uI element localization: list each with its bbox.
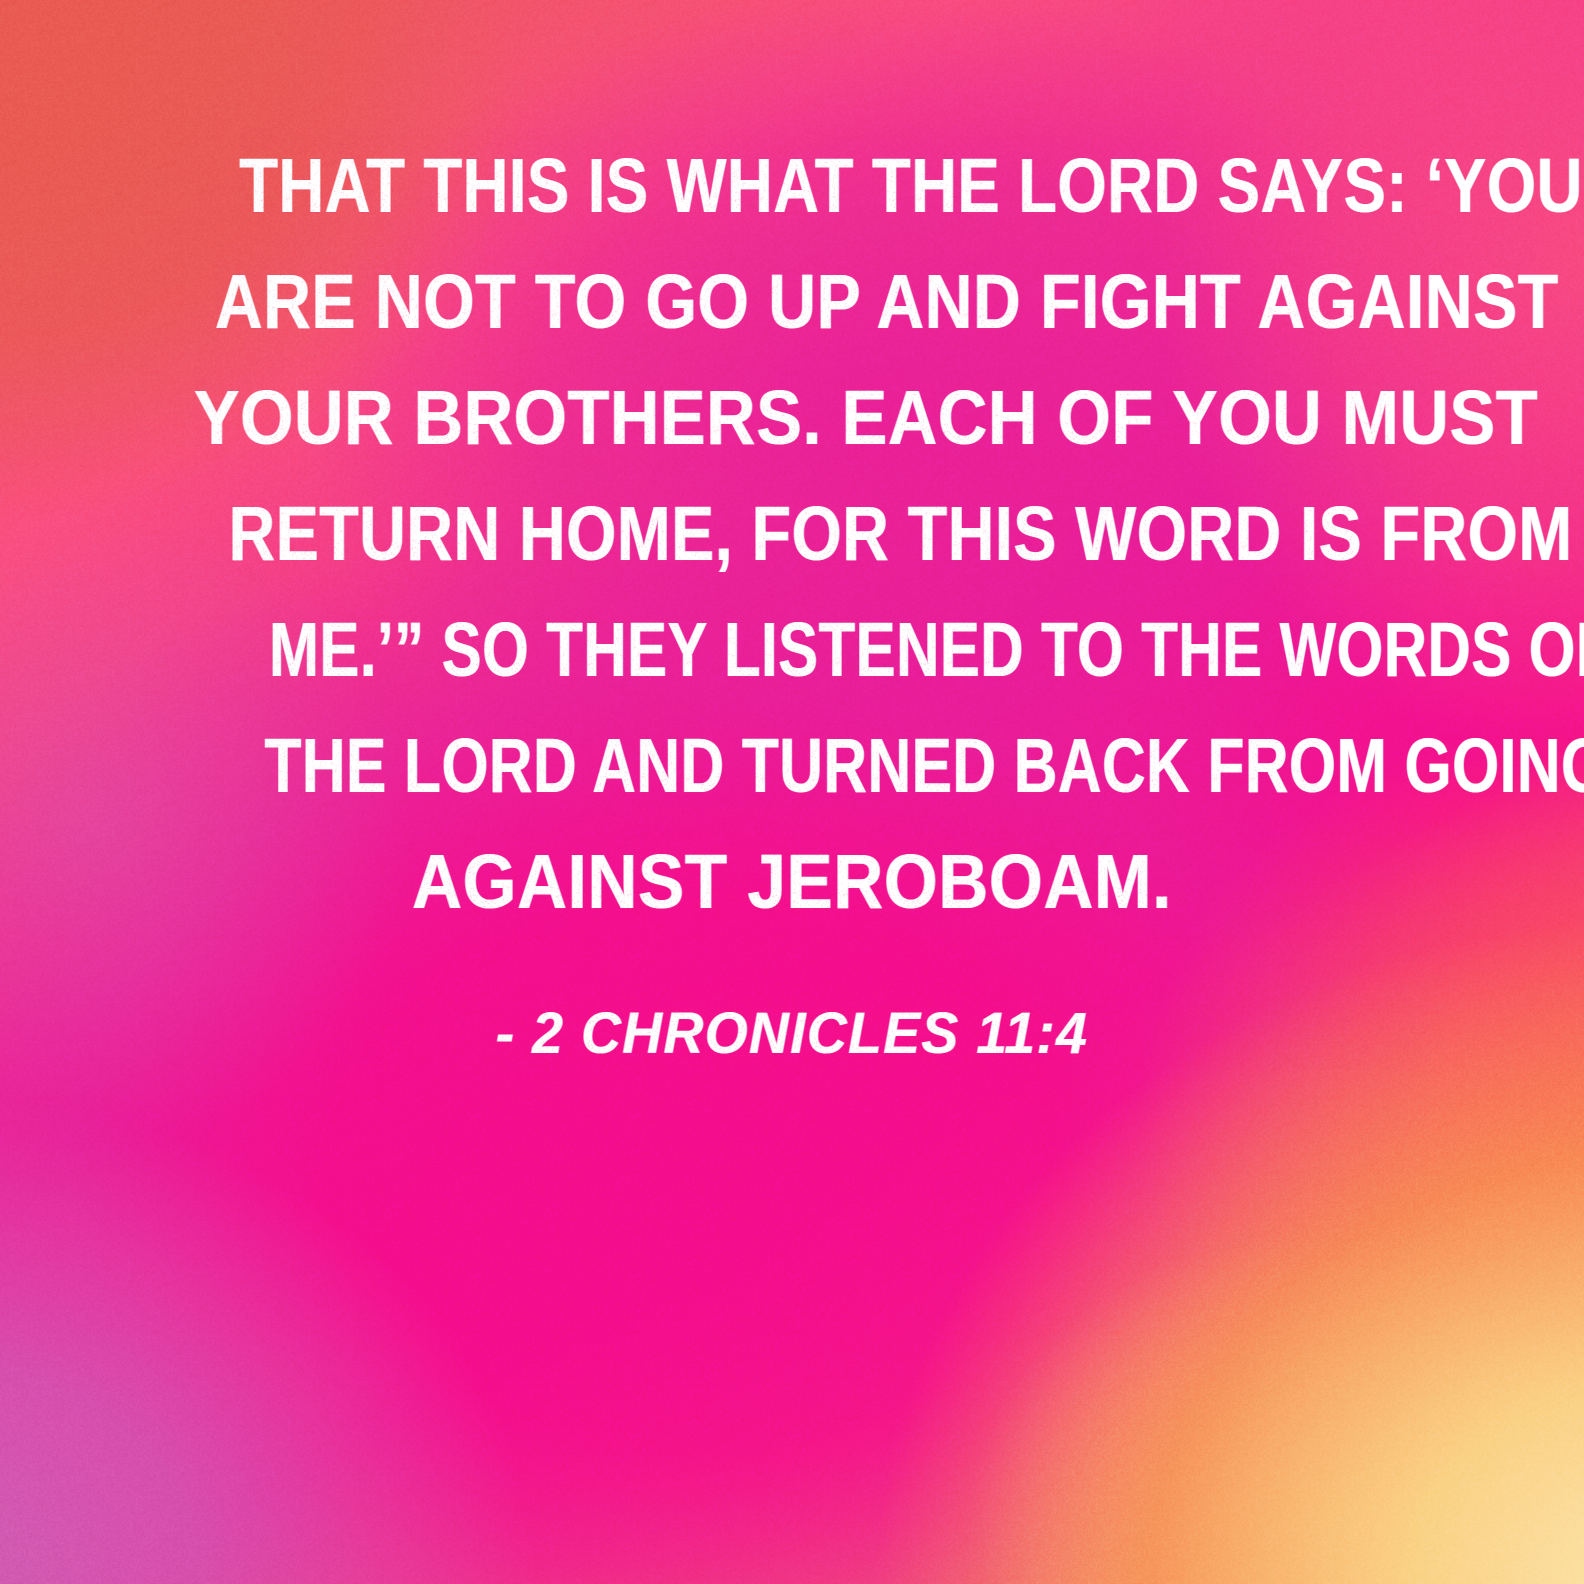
verse-line: against Jeroboam. — [187, 824, 1397, 940]
verse-attribution: - 2 Chronicles 11:4 — [154, 998, 1431, 1070]
verse-line: the LORD and turned back from going — [264, 708, 1319, 824]
verse-line: Me.’” So they listened to the words of — [269, 592, 1315, 708]
verse-line: are not to go up and fight against — [215, 244, 1369, 360]
verse-line: that this is what the LORD says: ‘You — [239, 128, 1344, 244]
verse-line: your brothers. Each of you must — [194, 360, 1390, 476]
verse-line: return home, for this word is from — [229, 476, 1356, 592]
quote-image-canvas: that this is what the LORD says: ‘You ar… — [0, 0, 1584, 1584]
quote-block: that this is what the LORD says: ‘You ar… — [0, 128, 1584, 1070]
